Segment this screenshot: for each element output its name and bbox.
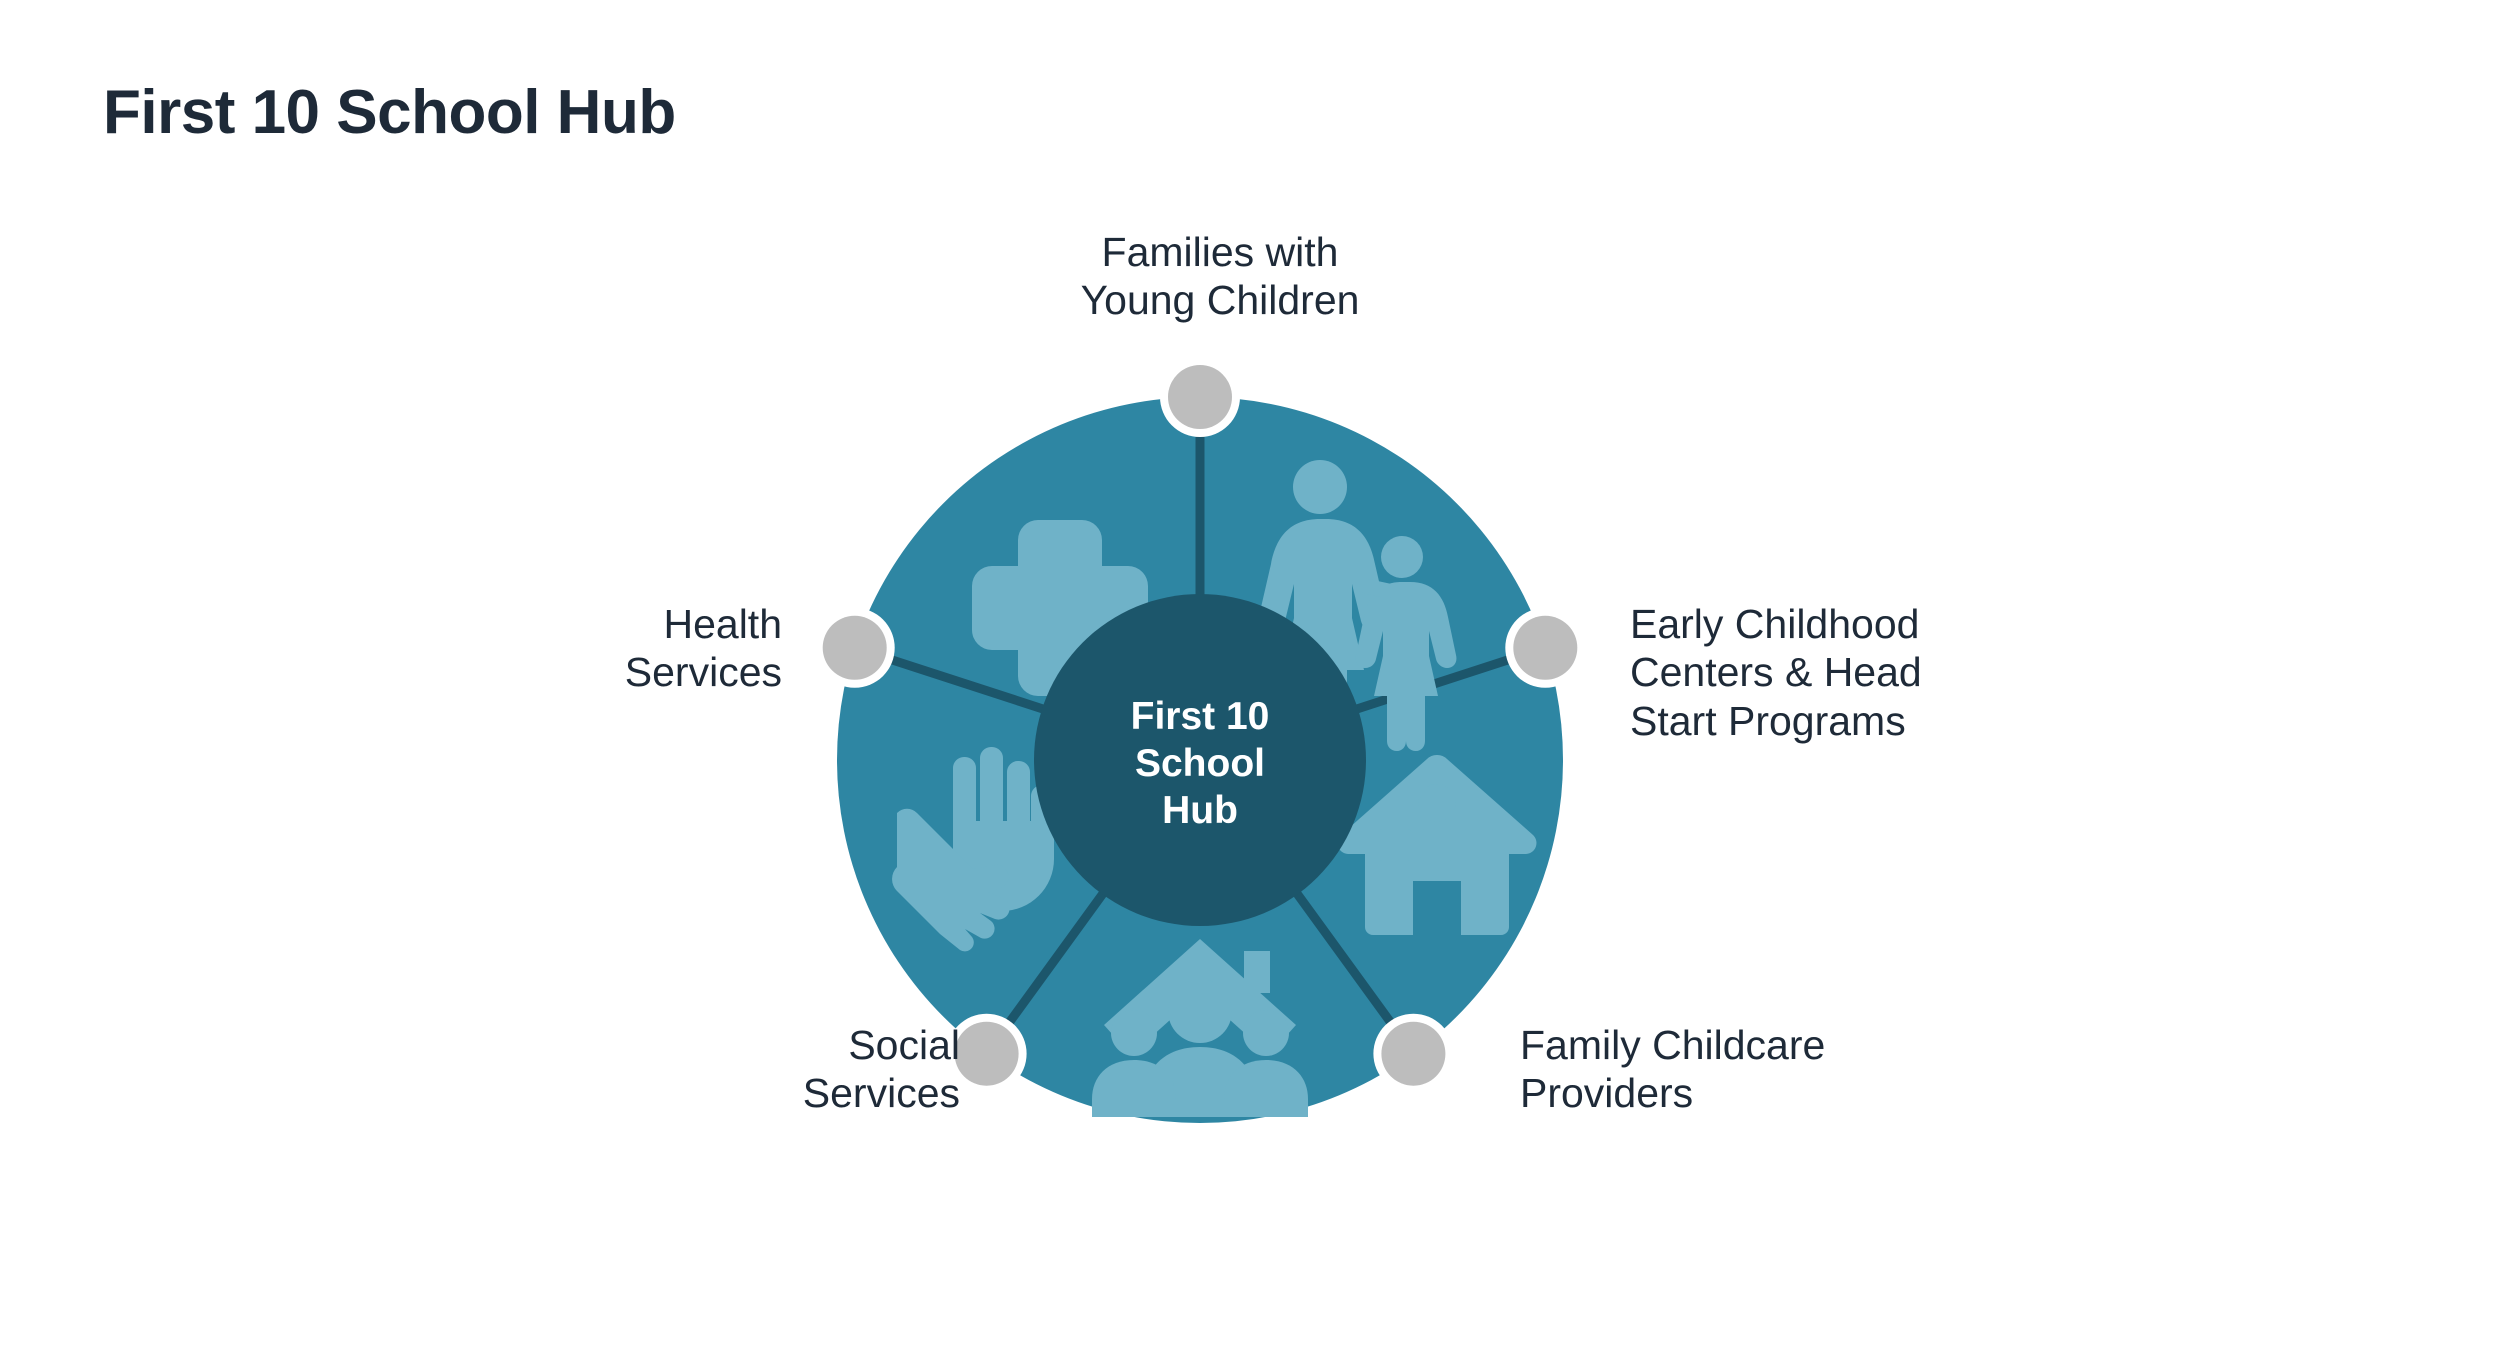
hub-label-line1: First 10 <box>1131 695 1270 738</box>
segment-label-family-childcare: Family Childcare Providers <box>1520 1021 1950 1118</box>
node-marker-health-services[interactable] <box>815 608 895 688</box>
node-marker-early-childhood[interactable] <box>1505 608 1585 688</box>
segment-label-health-services: Health Services <box>520 600 782 697</box>
segment-label-early-childhood: Early Childhood Centers & Head Start Pro… <box>1630 600 2050 745</box>
segment-label-social-services: Social Services <box>560 1021 960 1118</box>
hub-wheel-diagram: First 10 School Hub <box>0 0 2494 1366</box>
node-marker-families[interactable] <box>1160 357 1240 437</box>
hub-label-line3: Hub <box>1162 789 1238 832</box>
hub-label-line2: School <box>1135 742 1265 785</box>
node-marker-family-childcare[interactable] <box>1373 1014 1453 1094</box>
center-hub: First 10 School Hub <box>1034 594 1366 926</box>
segment-label-families: Families with Young Children <box>1040 228 1400 325</box>
